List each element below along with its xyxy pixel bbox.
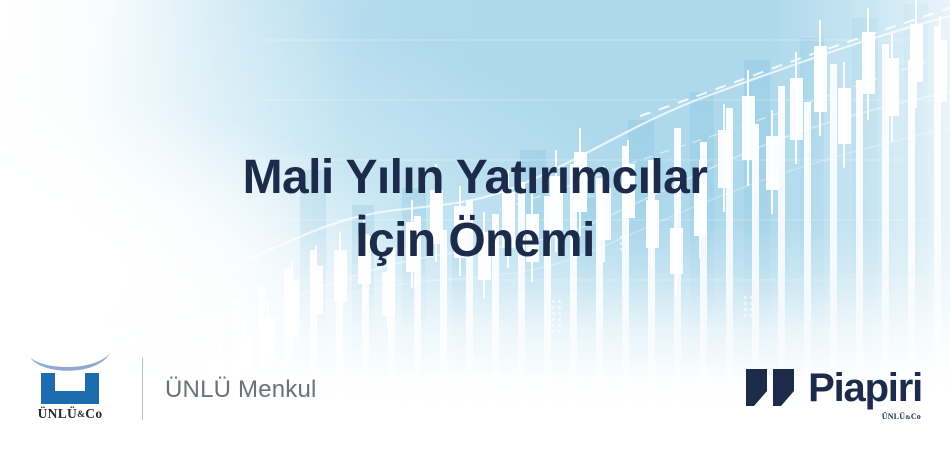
banner-footer: ÜNLÜ&Co ÜNLÜ Menkul Piapiri ÜNLÜ&Co xyxy=(0,340,950,450)
banner-headline: Mali Yılın Yatırımcılar İçin Önemi xyxy=(0,146,950,272)
unlu-word-main: ÜNLÜ xyxy=(38,406,77,421)
unlu-brand-group: ÜNLÜ&Co ÜNLÜ Menkul xyxy=(22,352,317,422)
piapiri-unlu-co-subtext: ÜNLÜ&Co xyxy=(882,412,921,421)
unlu-co-logo-icon: ÜNLÜ&Co xyxy=(22,352,118,422)
piapiri-wordmark: Piapiri xyxy=(808,368,922,408)
brand-divider xyxy=(142,358,143,420)
piapiri-logo-icon xyxy=(746,369,796,407)
headline-line-2: İçin Önemi xyxy=(0,209,950,272)
unlu-u-mark-icon xyxy=(28,352,112,406)
piapiri-brand-group: Piapiri ÜNLÜ&Co xyxy=(746,368,922,408)
unlu-word-suffix: Co xyxy=(85,406,102,421)
headline-line-1: Mali Yılın Yatırımcılar xyxy=(0,146,950,209)
promo-banner: Mali Yılın Yatırımcılar İçin Önemi ÜNLÜ&… xyxy=(0,0,950,450)
piapiri-sub-main: ÜNLÜ xyxy=(882,412,905,421)
unlu-co-wordmark: ÜNLÜ&Co xyxy=(22,406,118,422)
piapiri-wordmark-group: Piapiri ÜNLÜ&Co xyxy=(808,368,922,408)
piapiri-sub-suffix: Co xyxy=(911,412,921,421)
unlu-menkul-label: ÜNLÜ Menkul xyxy=(165,376,317,422)
